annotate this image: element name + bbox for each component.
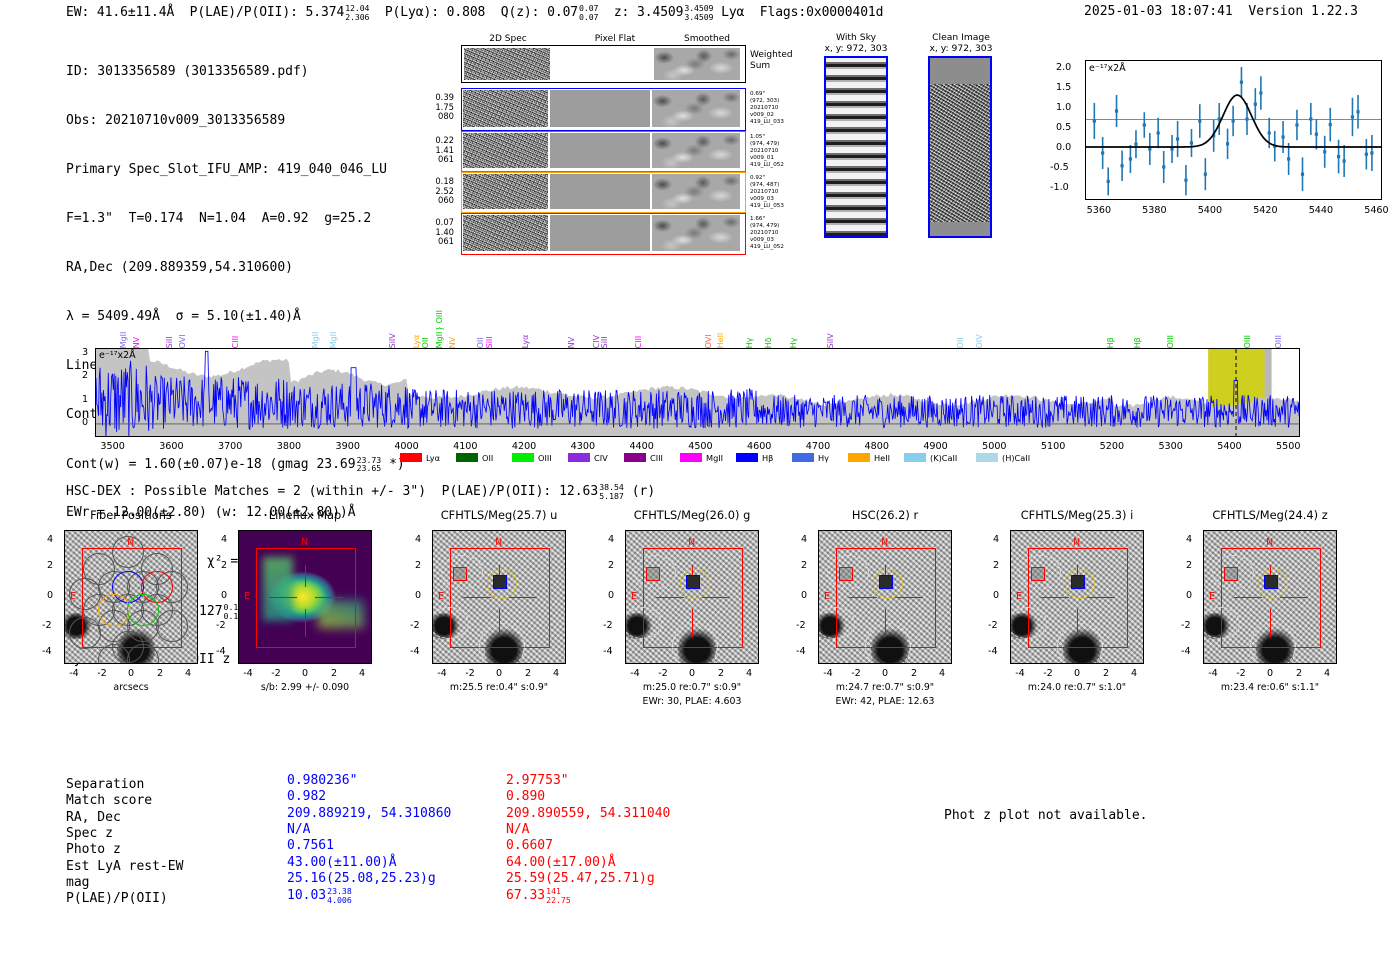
panel-y-tick: 2 — [415, 560, 421, 571]
match-red-fraction: 14122.75 — [546, 887, 571, 904]
header-timestamp: 2025-01-03 18:07:41 — [1084, 4, 1233, 19]
compass-north-label: N — [301, 537, 308, 548]
panel-xlabel: arcsecs — [44, 682, 218, 693]
fiber-smoothed-image — [652, 133, 740, 168]
header-plae-fraction: 12.042.306 — [345, 4, 369, 21]
fiber-pixelflat-image — [550, 133, 650, 168]
match-row-value-blue: 0.982 — [287, 789, 326, 804]
panel-caption: m:25.5 re:0.4" s:0.9" — [402, 682, 596, 693]
panel-y-tick: 2 — [221, 560, 227, 571]
panel-x-tick: -4 — [625, 668, 645, 679]
source-ellipse — [441, 555, 483, 589]
compass-east-label: E — [438, 591, 444, 602]
panel-y-tick: 4 — [47, 534, 53, 545]
fiber-circle[interactable] — [112, 536, 144, 568]
header-plae-lo: 2.306 — [345, 13, 369, 22]
crosshair-horizontal — [849, 597, 877, 598]
panel-y-tick: 4 — [1186, 534, 1192, 545]
panel-y-tick: -2 — [1181, 620, 1191, 631]
compass-east-label: E — [631, 591, 637, 602]
panel-y-tick: 4 — [608, 534, 614, 545]
highlighted-fiber-circle[interactable] — [98, 594, 130, 626]
panel-x-tick: -2 — [460, 668, 480, 679]
match-row-label: RA, Dec — [66, 810, 121, 825]
lineplot-y-tick: 1.5 — [1056, 82, 1071, 93]
crosshair-horizontal — [509, 597, 537, 598]
match-row-value-blue: 10.0323.384.006 — [287, 887, 352, 904]
legend-swatch — [736, 453, 758, 462]
fullspec-data-svg — [96, 349, 1300, 437]
spec2d-fiber-row — [461, 172, 746, 213]
panel-y-tick: -2 — [603, 620, 613, 631]
header-ew: EW: 41.6±11.4Å — [66, 5, 174, 20]
lineplot-axes: e⁻¹⁷x2Å — [1085, 60, 1382, 200]
fiber-right-meta: 0.92" (974, 487) 20210710 v009_03 419_LU… — [750, 175, 812, 210]
clean-image — [928, 56, 992, 238]
panel-x-tick: -2 — [266, 668, 286, 679]
spec2d-col-title-2dspec: 2D Spec — [463, 34, 553, 44]
crosshair-horizontal — [895, 597, 923, 598]
fullspec-x-tick: 4800 — [857, 441, 897, 452]
crosshair-horizontal — [1280, 597, 1308, 598]
panel-x-tick: 4 — [352, 668, 372, 679]
fullspec-y-tick: 0 — [82, 417, 88, 428]
legend-label: CIV — [594, 453, 608, 463]
panel-x-tick: 0 — [875, 668, 895, 679]
panel-y-tick: -4 — [1181, 646, 1191, 657]
match-row-value-red: 0.890 — [506, 789, 545, 804]
hscdex-fraction: 38.545.187 — [599, 483, 624, 500]
panel-x-tick: 2 — [1096, 668, 1116, 679]
crosshair-vertical — [305, 565, 306, 587]
compass-north-label: N — [1073, 537, 1080, 548]
fiber-right-meta: 0.69" (972, 303) 20210710 v009_02 419_LU… — [750, 91, 812, 126]
crosshair-horizontal — [656, 597, 684, 598]
panel-image[interactable]: NE — [64, 530, 198, 664]
panel-caption-secondary: EWr: 30, PLAE: 4.603 — [595, 696, 789, 707]
lineplot-x-tick: 5360 — [1084, 205, 1114, 216]
panel-x-tick: -2 — [92, 668, 112, 679]
panel-image[interactable]: NE — [1203, 530, 1337, 664]
lineplot-x-tick: 5420 — [1250, 205, 1280, 216]
panel-caption: m:24.0 re:0.7" s:1.0" — [980, 682, 1174, 693]
header-line-id: Lyα — [721, 5, 744, 20]
blue-match-marker[interactable] — [493, 575, 507, 589]
hscdex-lo: 5.187 — [599, 492, 624, 501]
header-flags: Flags:0x0000401d — [760, 5, 884, 20]
legend-swatch — [792, 453, 814, 462]
panel-y-tick: 4 — [801, 534, 807, 545]
header-z-fraction: 3.45093.4509 — [684, 4, 713, 21]
lineplot-x-tick: 5460 — [1361, 205, 1391, 216]
highlighted-fiber-circle[interactable] — [127, 594, 159, 626]
panel-y-tick: 2 — [993, 560, 999, 571]
panel-x-tick: 2 — [324, 668, 344, 679]
match-red-lo: 22.75 — [546, 896, 571, 905]
fiber-pixelflat-image — [550, 174, 650, 209]
weighted-sum-2dspec-image — [464, 48, 550, 80]
spec2d-weighted-sum-row — [461, 45, 746, 83]
source-ellipse — [827, 555, 869, 589]
source-ellipse — [1250, 623, 1296, 664]
match-row-value-blue: 209.889219, 54.310860 — [287, 806, 451, 821]
match-row-value-blue: 0.980236" — [287, 773, 357, 788]
panel-y-tick: 0 — [415, 590, 421, 601]
fullspec-y-tick: 1 — [82, 394, 88, 405]
info-id: ID: 3013356589 (3013356589.pdf) — [66, 64, 405, 80]
match-blue-lo: 4.006 — [327, 896, 352, 905]
panel-image[interactable]: NE — [238, 530, 372, 664]
match-row-value-blue: 43.00(±11.00)Å — [287, 855, 397, 870]
legend-label: HeII — [874, 453, 890, 463]
crosshair-horizontal — [1234, 597, 1262, 598]
hscdex-post: (r) — [632, 484, 655, 499]
lineplot-x-tick: 5380 — [1139, 205, 1169, 216]
lineplot-y-tick: -1.0 — [1050, 182, 1069, 193]
match-red-main: 67.33 — [506, 888, 545, 903]
crosshair-horizontal — [1087, 597, 1115, 598]
hscdex-match-line: HSC-DEX : Possible Matches = 2 (within +… — [66, 483, 655, 500]
header-timestamp-version: 2025-01-03 18:07:41 Version 1.22.3 — [1084, 4, 1358, 19]
panel-y-tick: -2 — [988, 620, 998, 631]
crosshair-horizontal — [315, 597, 343, 598]
fullspec-x-tick: 4600 — [739, 441, 779, 452]
fiber-smoothed-image — [652, 215, 740, 251]
fullspec-x-tick: 3900 — [328, 441, 368, 452]
panel-caption: s/b: 2.99 +/- 0.090 — [208, 682, 402, 693]
header-qz-lo: 0.07 — [579, 13, 598, 22]
panel-x-tick: 0 — [682, 668, 702, 679]
fiber-pixelflat-image — [550, 215, 650, 251]
lineplot-y-tick: 1.0 — [1056, 102, 1071, 113]
panel-x-tick: 4 — [178, 668, 198, 679]
legend-swatch — [512, 453, 534, 462]
spec2d-fiber-row — [461, 88, 746, 131]
panel-y-tick: -4 — [988, 646, 998, 657]
panel-y-tick: -4 — [603, 646, 613, 657]
match-row-value-red: 2.97753" — [506, 773, 569, 788]
legend-swatch — [456, 453, 478, 462]
fiber-left-stats: 0.18 2.52 060 — [398, 177, 454, 206]
fiber-left-stats: 0.39 1.75 080 — [398, 93, 454, 122]
compass-north-label: N — [688, 537, 695, 548]
legend-swatch — [976, 453, 998, 462]
panel-x-tick: -4 — [432, 668, 452, 679]
panel-y-tick: 4 — [415, 534, 421, 545]
header-version: Version 1.22.3 — [1248, 4, 1358, 19]
panel-x-tick: -2 — [1231, 668, 1251, 679]
hscdex-pre: HSC-DEX : Possible Matches = 2 (within +… — [66, 484, 598, 499]
panel-y-tick: -2 — [410, 620, 420, 631]
panel-y-tick: 0 — [993, 590, 999, 601]
header-qz-fraction: 0.070.07 — [579, 4, 598, 21]
legend-label: OII — [482, 453, 493, 463]
match-row-label: mag — [66, 875, 89, 890]
source-ellipse — [479, 623, 525, 664]
lineplot-y-tick: -0.5 — [1050, 162, 1069, 173]
panel-x-tick: -4 — [1010, 668, 1030, 679]
compass-east-label: E — [1016, 591, 1022, 602]
info-primary-spec: Primary Spec_Slot_IFU_AMP: 419_040_046_L… — [66, 162, 405, 178]
fullspec-x-tick: 3600 — [151, 441, 191, 452]
panel-x-tick: 0 — [1067, 668, 1087, 679]
match-row-value-red: 25.59(25.47,25.71)g — [506, 871, 655, 886]
panel-y-tick: -4 — [410, 646, 420, 657]
fiber-pixelflat-image — [550, 90, 650, 127]
panel-x-tick: 0 — [121, 668, 141, 679]
panel-x-tick: 2 — [1289, 668, 1309, 679]
photz-note: Phot z plot not available. — [944, 808, 1148, 823]
header-z-label: z: 3.4509 — [614, 5, 684, 20]
fullspec-axes: e⁻¹⁷x2Å — [95, 348, 1300, 437]
elixer-report-page: EW: 41.6±11.4Å P(LAE)/P(OII): 5.37412.04… — [0, 0, 1400, 953]
match-row-label: Match score — [66, 793, 152, 808]
weighted-sum-label: WeightedSum — [750, 50, 793, 71]
fullspec-x-tick: 4200 — [504, 441, 544, 452]
fiber-smoothed-image — [652, 174, 740, 209]
panel-title: CFHTLS/Meg(24.4) z — [1168, 508, 1372, 522]
compass-north-label: N — [1266, 537, 1273, 548]
source-ellipse — [1212, 555, 1254, 589]
panel-title: CFHTLS/Meg(25.7) u — [397, 508, 601, 522]
fiber-left-stats: 0.22 1.41 061 — [398, 136, 454, 165]
fiber-2dspec-image — [463, 174, 548, 209]
lineplot-y-tick: 0.0 — [1056, 142, 1071, 153]
fullspec-x-tick: 4300 — [563, 441, 603, 452]
panel-y-tick: 2 — [801, 560, 807, 571]
fiber-right-meta: 1.05" (974, 479) 20210710 v009_01 419_LU… — [750, 134, 812, 169]
legend-label: Hγ — [818, 453, 829, 463]
panel-image[interactable]: NE — [1010, 530, 1144, 664]
fullspec-units: e⁻¹⁷x2Å — [99, 350, 136, 361]
panel-x-tick: 4 — [1124, 668, 1144, 679]
fullspec-y-tick: 2 — [82, 370, 88, 381]
panel-title: Lineflux Map — [203, 508, 407, 522]
fullspec-x-tick: 5100 — [1033, 441, 1073, 452]
fullspec-x-tick: 4900 — [916, 441, 956, 452]
panel-y-tick: 2 — [47, 560, 53, 571]
fullspec-x-tick: 5300 — [1151, 441, 1191, 452]
fiber-circle[interactable] — [69, 617, 101, 649]
fiber-right-meta: 1.66" (974, 479) 20210710 v009_03 419_LU… — [750, 216, 812, 251]
with-sky-title: With Skyx, y: 972, 303 — [806, 32, 906, 54]
panel-image[interactable]: NE — [818, 530, 952, 664]
fiber-2dspec-image — [463, 215, 548, 251]
compass-north-label: N — [495, 537, 502, 548]
panel-y-tick: -4 — [42, 646, 52, 657]
panel-y-tick: 0 — [801, 590, 807, 601]
panel-y-tick: -2 — [796, 620, 806, 631]
source-ellipse — [634, 555, 676, 589]
fiber-circle[interactable] — [156, 610, 188, 642]
match-row-value-red: N/A — [506, 822, 529, 837]
legend-label: MgII — [706, 453, 723, 463]
fullspec-x-tick: 5500 — [1268, 441, 1308, 452]
panel-caption: m:25.0 re:0.7" s:0.9" — [595, 682, 789, 693]
crosshair-horizontal — [463, 597, 491, 598]
fullspec-x-tick: 5400 — [1209, 441, 1249, 452]
panel-x-tick: 4 — [546, 668, 566, 679]
fullspec-x-tick: 4000 — [387, 441, 427, 452]
panel-x-tick: 0 — [489, 668, 509, 679]
lineplot-y-tick: 0.5 — [1056, 122, 1071, 133]
crosshair-vertical — [305, 609, 306, 637]
compass-north-label: N — [881, 537, 888, 548]
panel-x-tick: 2 — [904, 668, 924, 679]
compass-east-label: E — [244, 591, 250, 602]
lineplot-x-tick: 5440 — [1306, 205, 1336, 216]
panel-x-tick: -2 — [653, 668, 673, 679]
panel-y-tick: 4 — [993, 534, 999, 545]
weighted-sum-pixelflat-image — [552, 48, 652, 80]
panel-x-tick: -2 — [846, 668, 866, 679]
match-row-value-red: 209.890559, 54.311040 — [506, 806, 670, 821]
panel-caption: m:23.4 re:0.6" s:1.1" — [1173, 682, 1367, 693]
fullspec-x-tick: 4700 — [798, 441, 838, 452]
match-row-value-red: 67.3314122.75 — [506, 887, 571, 904]
lineplot-x-tick: 5400 — [1195, 205, 1225, 216]
panel-y-tick: -2 — [42, 620, 52, 631]
spec2d-fiber-row — [461, 213, 746, 255]
match-row-label: Spec z — [66, 826, 113, 841]
panel-x-tick: -4 — [818, 668, 838, 679]
fullspec-x-tick: 4100 — [445, 441, 485, 452]
emission-line-fit-plot: e⁻¹⁷x2Å 2.01.51.00.50.0-0.5-1.0 53605380… — [1040, 52, 1390, 252]
panel-image[interactable]: NE — [432, 530, 566, 664]
source-ellipse — [672, 623, 718, 664]
fullspec-x-tick: 5000 — [974, 441, 1014, 452]
compass-east-label: E — [824, 591, 830, 602]
legend-label: Hβ — [762, 453, 773, 463]
fullspec-x-tick: 4400 — [622, 441, 662, 452]
panel-x-tick: -4 — [1203, 668, 1223, 679]
match-row-label: Separation — [66, 777, 144, 792]
blue-match-marker[interactable] — [1264, 575, 1278, 589]
source-ellipse — [1057, 623, 1103, 664]
legend-swatch — [848, 453, 870, 462]
blue-match-marker[interactable] — [879, 575, 893, 589]
fiber-left-stats: 0.07 1.40 061 — [398, 218, 454, 247]
panel-x-tick: 4 — [932, 668, 952, 679]
panel-y-tick: 0 — [47, 590, 53, 601]
panel-x-tick: 4 — [739, 668, 759, 679]
match-row-value-red: 64.00(±17.00)Å — [506, 855, 616, 870]
report-header: EW: 41.6±11.4Å P(LAE)/P(OII): 5.37412.04… — [0, 4, 1400, 28]
fullspec-x-tick: 3700 — [210, 441, 250, 452]
blue-match-marker[interactable] — [686, 575, 700, 589]
fullspec-x-tick: 5200 — [1092, 441, 1132, 452]
header-plae-label: P(LAE)/P(OII): 5.374 — [190, 5, 345, 20]
legend-label: OIII — [538, 453, 552, 463]
match-row-label: Photo z — [66, 842, 121, 857]
info-obs: Obs: 20210710v009_3013356589 — [66, 113, 405, 129]
fullspec-y-tick: 3 — [82, 347, 88, 358]
panel-x-tick: -2 — [1038, 668, 1058, 679]
clean-image-title: Clean Imagex, y: 972, 303 — [906, 32, 1016, 54]
spec2d-col-title-pixelflat: Pixel Flat — [570, 34, 660, 44]
compass-east-label: E — [1209, 591, 1215, 602]
panel-x-tick: 4 — [1317, 668, 1337, 679]
legend-swatch — [400, 453, 422, 462]
legend-label: (H)CaII — [1002, 453, 1030, 463]
emission-line-label: } OIII — [435, 310, 444, 331]
match-row-value-red: 0.6607 — [506, 838, 553, 853]
crosshair-horizontal — [1041, 597, 1069, 598]
lineplot-y-tick: 2.0 — [1056, 62, 1071, 73]
legend-swatch — [904, 453, 926, 462]
match-row-value-blue: 25.16(25.08,25.23)g — [287, 871, 436, 886]
panel-x-tick: 0 — [1260, 668, 1280, 679]
crosshair-horizontal — [269, 597, 297, 598]
panel-x-tick: 2 — [518, 668, 538, 679]
header-plya: P(Lyα): 0.808 — [385, 5, 485, 20]
panel-y-tick: -4 — [216, 646, 226, 657]
panel-y-tick: 0 — [1186, 590, 1192, 601]
match-row-value-blue: 0.7561 — [287, 838, 334, 853]
panel-title: CFHTLS/Meg(25.3) i — [975, 508, 1179, 522]
panel-y-tick: -2 — [216, 620, 226, 631]
fullspec-x-tick: 3800 — [269, 441, 309, 452]
with-sky-image — [824, 56, 888, 238]
legend-swatch — [568, 453, 590, 462]
fiber-smoothed-image — [652, 90, 740, 127]
match-blue-main: 10.03 — [287, 888, 326, 903]
panel-image[interactable]: NE — [625, 530, 759, 664]
panel-y-tick: 2 — [608, 560, 614, 571]
fiber-2dspec-image — [463, 133, 548, 168]
panel-x-tick: 2 — [150, 668, 170, 679]
weighted-sum-smoothed-image — [654, 48, 740, 80]
legend-swatch — [680, 453, 702, 462]
match-row-label: P(LAE)/P(OII) — [66, 891, 168, 906]
match-row-value-blue: N/A — [287, 822, 310, 837]
source-ellipse — [1019, 555, 1061, 589]
panel-x-tick: 0 — [295, 668, 315, 679]
panel-x-tick: -4 — [238, 668, 258, 679]
panel-x-tick: -4 — [64, 668, 84, 679]
source-ellipse — [865, 623, 911, 664]
spec2d-col-title-smoothed: Smoothed — [662, 34, 752, 44]
header-qz-label: Q(z): 0.07 — [501, 5, 578, 20]
panel-x-tick: 2 — [711, 668, 731, 679]
spec2d-fiber-row — [461, 131, 746, 172]
panel-y-tick: 0 — [608, 590, 614, 601]
panel-y-tick: 2 — [1186, 560, 1192, 571]
header-summary-line: EW: 41.6±11.4Å P(LAE)/P(OII): 5.37412.04… — [66, 4, 883, 21]
fiber-2dspec-image — [463, 90, 548, 127]
legend-label: (K)CaII — [930, 453, 957, 463]
panel-title: CFHTLS/Meg(26.0) g — [590, 508, 794, 522]
panel-y-tick: 4 — [221, 534, 227, 545]
header-z-lo: 3.4509 — [684, 13, 713, 22]
info-seeing: F=1.3" T=0.174 N=1.04 A=0.92 g=25.2 — [66, 211, 405, 227]
crosshair-horizontal — [702, 597, 730, 598]
fullspec-x-tick: 3500 — [93, 441, 133, 452]
full-spectrum-plot: } MgII} NV} SiII} OVI} CIII} MgII} MgII}… — [0, 265, 1400, 470]
legend-swatch — [624, 453, 646, 462]
lineplot-data-svg — [1086, 61, 1382, 200]
panel-y-tick: 0 — [221, 590, 227, 601]
panel-y-tick: -4 — [796, 646, 806, 657]
match-row-label: Est LyA rest-EW — [66, 859, 183, 874]
panel-caption: m:24.7 re:0.7" s:0.9" — [788, 682, 982, 693]
panel-title: HSC(26.2) r — [783, 508, 987, 522]
blue-match-marker[interactable] — [1071, 575, 1085, 589]
legend-label: CIII — [650, 453, 663, 463]
legend-label: Lyα — [426, 453, 440, 463]
panel-caption-secondary: EWr: 42, PLAE: 12.63 — [788, 696, 982, 707]
match-blue-fraction: 23.384.006 — [327, 887, 352, 904]
